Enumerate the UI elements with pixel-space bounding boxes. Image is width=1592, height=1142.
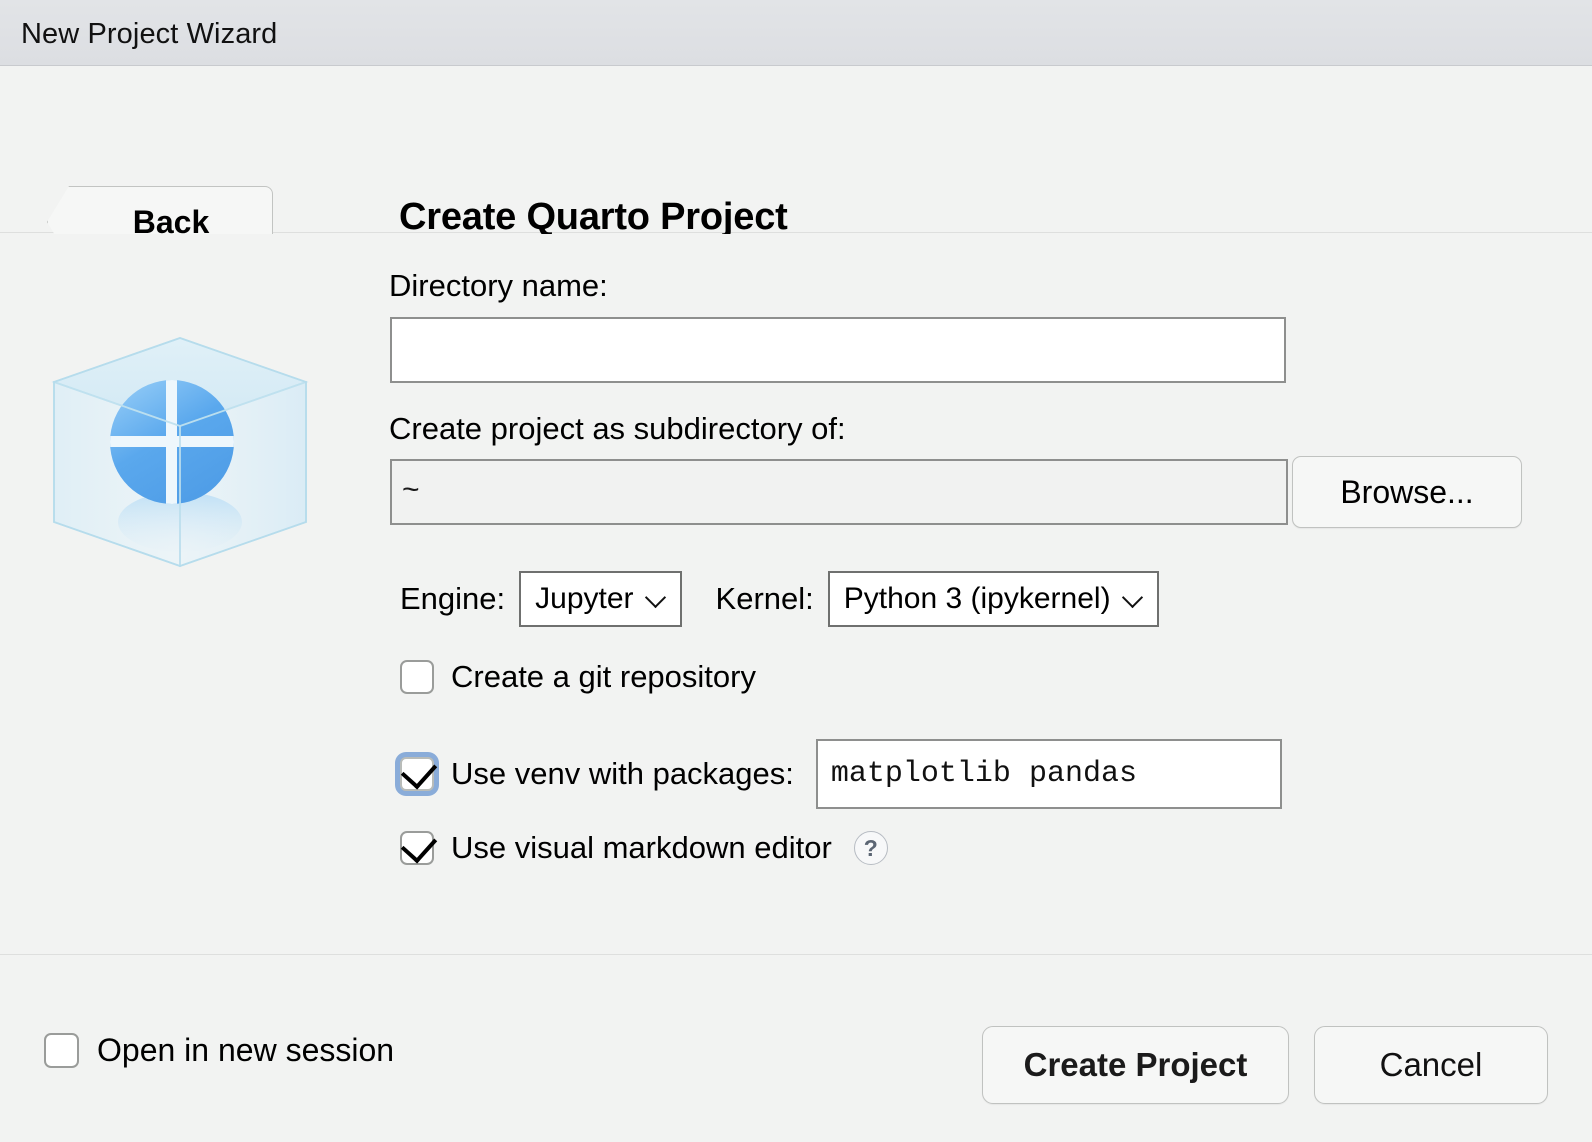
subdirectory-input[interactable]: ~	[390, 459, 1288, 525]
help-icon-glyph: ?	[864, 835, 878, 862]
wizard-body: Directory name: Create project as subdir…	[0, 234, 1592, 955]
checkmark-icon	[401, 826, 437, 863]
create-git-repository-checkbox[interactable]	[400, 660, 434, 694]
chevron-down-icon	[646, 588, 668, 610]
question-mark-icon[interactable]: ?	[854, 831, 888, 865]
kernel-select[interactable]: Python 3 (ipykernel)	[828, 571, 1159, 627]
page-title: Create Quarto Project	[399, 196, 788, 239]
use-visual-markdown-editor-label: Use visual markdown editor	[451, 830, 832, 866]
engine-label: Engine:	[400, 581, 505, 617]
venv-packages-value: matplotlib pandas	[831, 757, 1137, 791]
wizard-header: Back Create Quarto Project	[0, 67, 1592, 233]
open-in-new-session-label: Open in new session	[97, 1032, 394, 1069]
new-project-wizard-dialog: New Project Wizard Back Create Quarto Pr…	[0, 0, 1592, 1142]
use-venv-label: Use venv with packages:	[451, 756, 794, 792]
kernel-selected-value: Python 3 (ipykernel)	[844, 582, 1111, 616]
subdirectory-label: Create project as subdirectory of:	[389, 411, 846, 447]
cancel-button-label: Cancel	[1380, 1046, 1483, 1084]
engine-kernel-row: Engine: Jupyter Kernel: Python 3 (ipyker…	[400, 571, 1159, 627]
cancel-button[interactable]: Cancel	[1314, 1026, 1548, 1104]
engine-select[interactable]: Jupyter	[519, 571, 681, 627]
create-git-repository-label: Create a git repository	[451, 659, 756, 695]
open-new-session-row: Open in new session	[44, 1032, 394, 1069]
create-project-button[interactable]: Create Project	[982, 1026, 1289, 1104]
open-in-new-session-checkbox[interactable]	[44, 1033, 79, 1068]
create-project-button-label: Create Project	[1024, 1046, 1248, 1084]
chevron-down-icon	[1123, 588, 1145, 610]
engine-selected-value: Jupyter	[535, 582, 633, 616]
venv-row: Use venv with packages: matplotlib panda…	[400, 739, 1282, 809]
use-venv-checkbox[interactable]	[400, 757, 434, 791]
checkmark-icon	[401, 752, 437, 789]
git-repo-row: Create a git repository	[400, 659, 756, 695]
visual-editor-row: Use visual markdown editor ?	[400, 830, 888, 866]
quarto-cube-logo-icon	[40, 322, 320, 592]
window-titlebar: New Project Wizard	[0, 0, 1592, 66]
subdirectory-value: ~	[402, 475, 420, 509]
window-title: New Project Wizard	[21, 18, 277, 51]
browse-button[interactable]: Browse...	[1292, 456, 1522, 528]
directory-name-input[interactable]	[390, 317, 1286, 383]
footer-button-group: Create Project Cancel	[982, 1026, 1548, 1104]
venv-packages-input[interactable]: matplotlib pandas	[816, 739, 1282, 809]
directory-name-label: Directory name:	[389, 268, 608, 304]
wizard-footer: Open in new session Create Project Cance…	[0, 956, 1592, 1142]
kernel-label: Kernel:	[716, 581, 814, 617]
browse-button-label: Browse...	[1340, 474, 1473, 511]
use-visual-markdown-editor-checkbox[interactable]	[400, 831, 434, 865]
